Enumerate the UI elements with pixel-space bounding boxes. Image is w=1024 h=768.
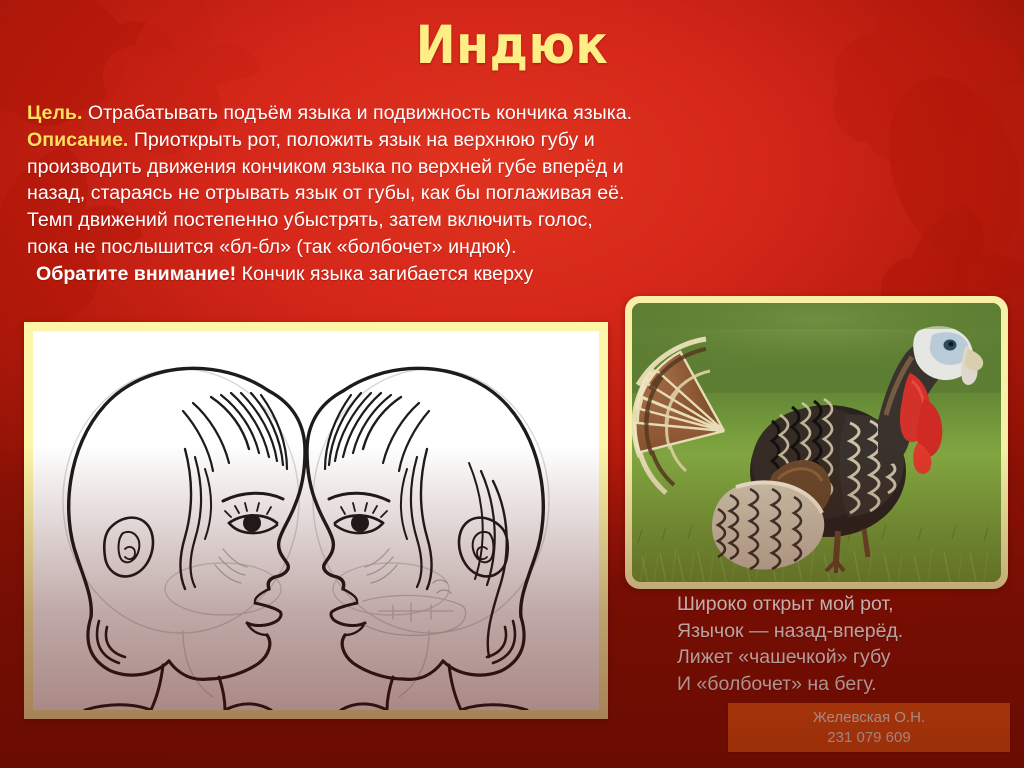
photo-frame [625, 296, 1008, 589]
goal-label: Цель. [27, 102, 82, 124]
attention-label: Обратите внимание! [36, 263, 236, 285]
exercise-description: Цель. Отрабатывать подъём языка и подвиж… [27, 100, 637, 288]
illustration-frame [24, 322, 608, 719]
goal-text: Отрабатывать подъём языка и подвижность … [82, 102, 632, 124]
children-profiles-illustration [33, 331, 599, 710]
page-title: Индюк [0, 18, 1024, 74]
turkey-illustration [632, 303, 1001, 582]
credit-code: 231 079 609 [827, 728, 910, 748]
description-line: Описание. Приоткрыть рот, положить язык … [27, 127, 637, 261]
attention-text: Кончик языка загибается кверху [236, 263, 533, 285]
attention-line: Обратите внимание! Кончик языка загибает… [27, 261, 637, 288]
credit-author: Желевская О.Н. [813, 708, 925, 728]
poem-text: Широко открыт мой рот, Язычок — назад-вп… [677, 591, 1017, 697]
slide-canvas: Индюк Цель. Отрабатывать подъём языка и … [0, 0, 1024, 768]
goal-line: Цель. Отрабатывать подъём языка и подвиж… [27, 100, 637, 127]
turkey-photo [632, 303, 1001, 582]
poem-line: И «болбочет» на бегу. [677, 671, 1017, 698]
description-label: Описание. [27, 129, 128, 151]
poem-line: Язычок — назад-вперёд. [677, 618, 1017, 645]
poem-line: Лижет «чашечкой» губу [677, 644, 1017, 671]
poem-line: Широко открыт мой рот, [677, 591, 1017, 618]
face-profiles-drawing [33, 331, 599, 710]
credit-box: Желевская О.Н. 231 079 609 [728, 703, 1010, 752]
